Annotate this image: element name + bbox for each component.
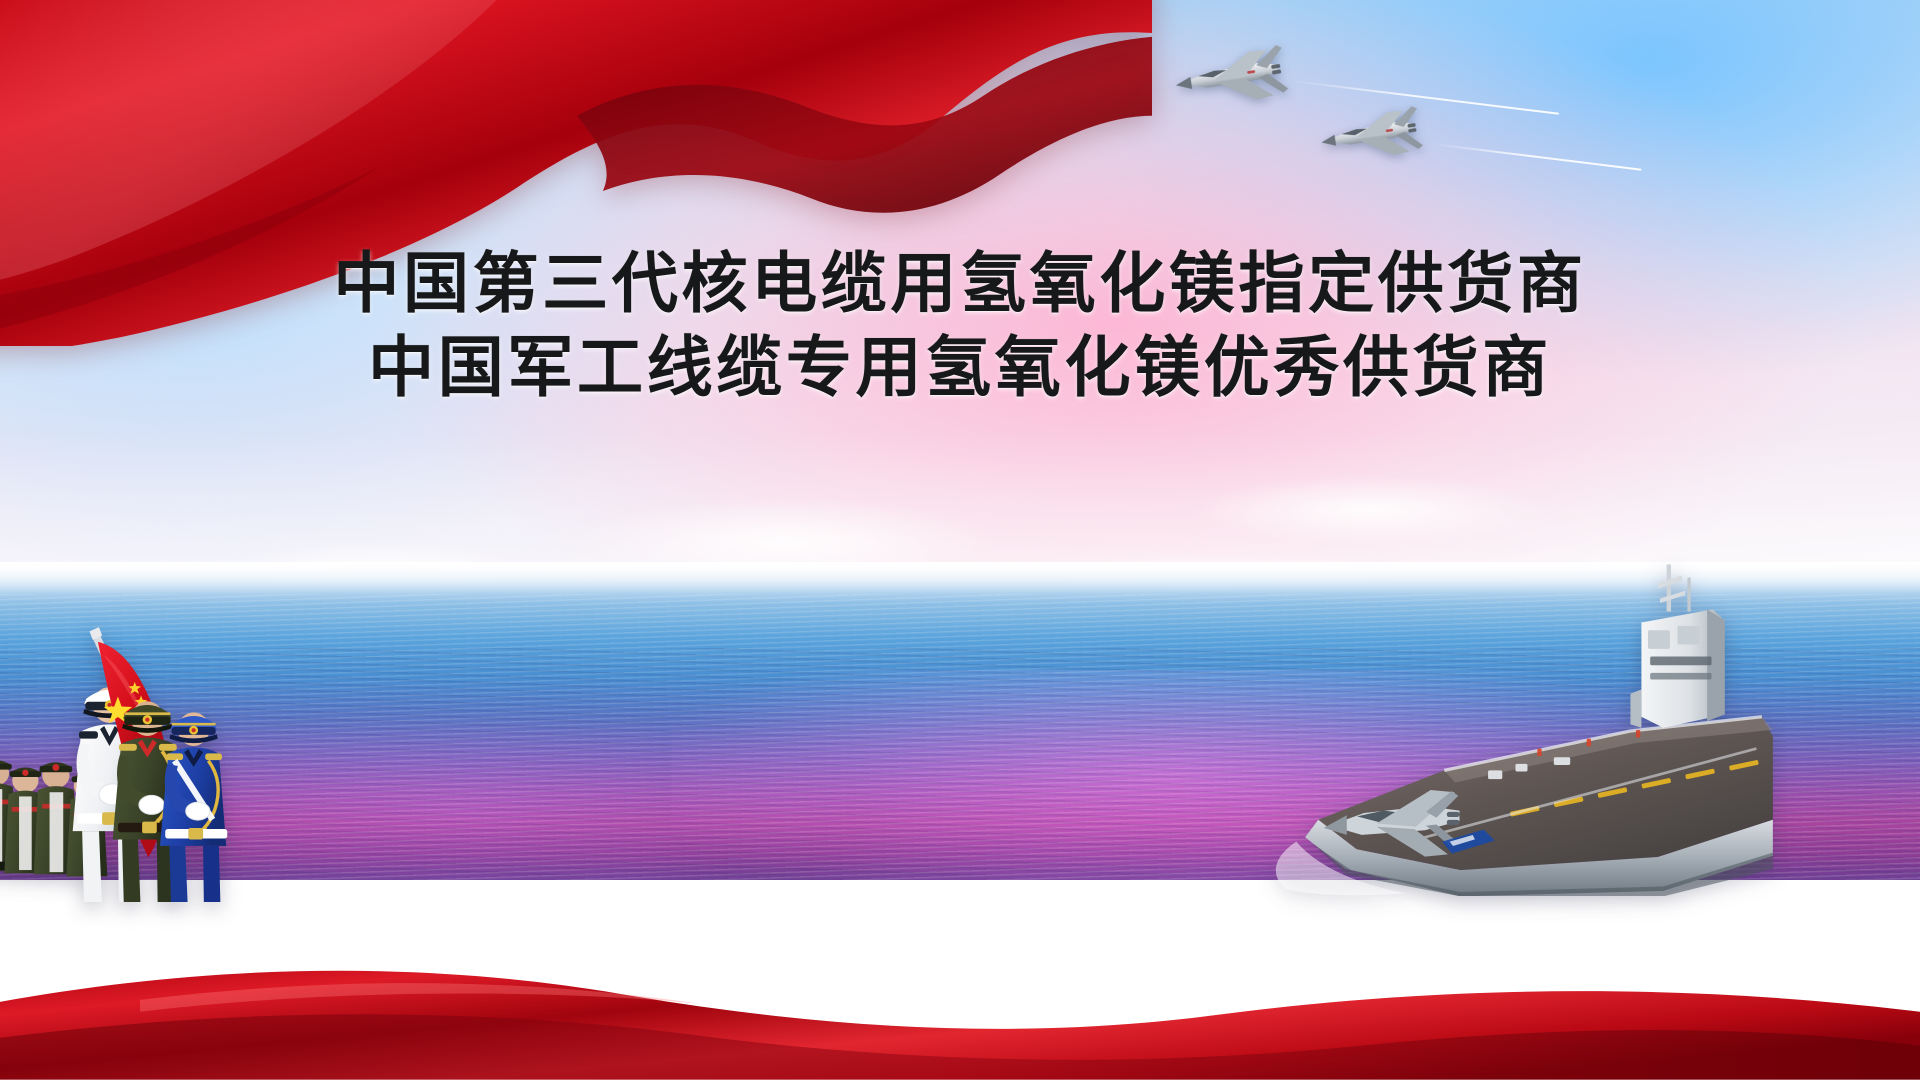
banner-stage: 中国第三代核电缆用氢氧化镁指定供货商 中国军工线缆专用氢氧化镁优秀供货商 — [0, 0, 1920, 1080]
bottom-red-ribbon — [0, 950, 1920, 1080]
promotional-banner: 中国第三代核电缆用氢氧化镁指定供货商 中国军工线缆专用氢氧化镁优秀供货商 — [0, 0, 1920, 1080]
honor-guard-formation — [0, 502, 515, 902]
aircraft-carrier — [1104, 513, 1920, 896]
red-silk-flag — [0, 0, 1152, 346]
